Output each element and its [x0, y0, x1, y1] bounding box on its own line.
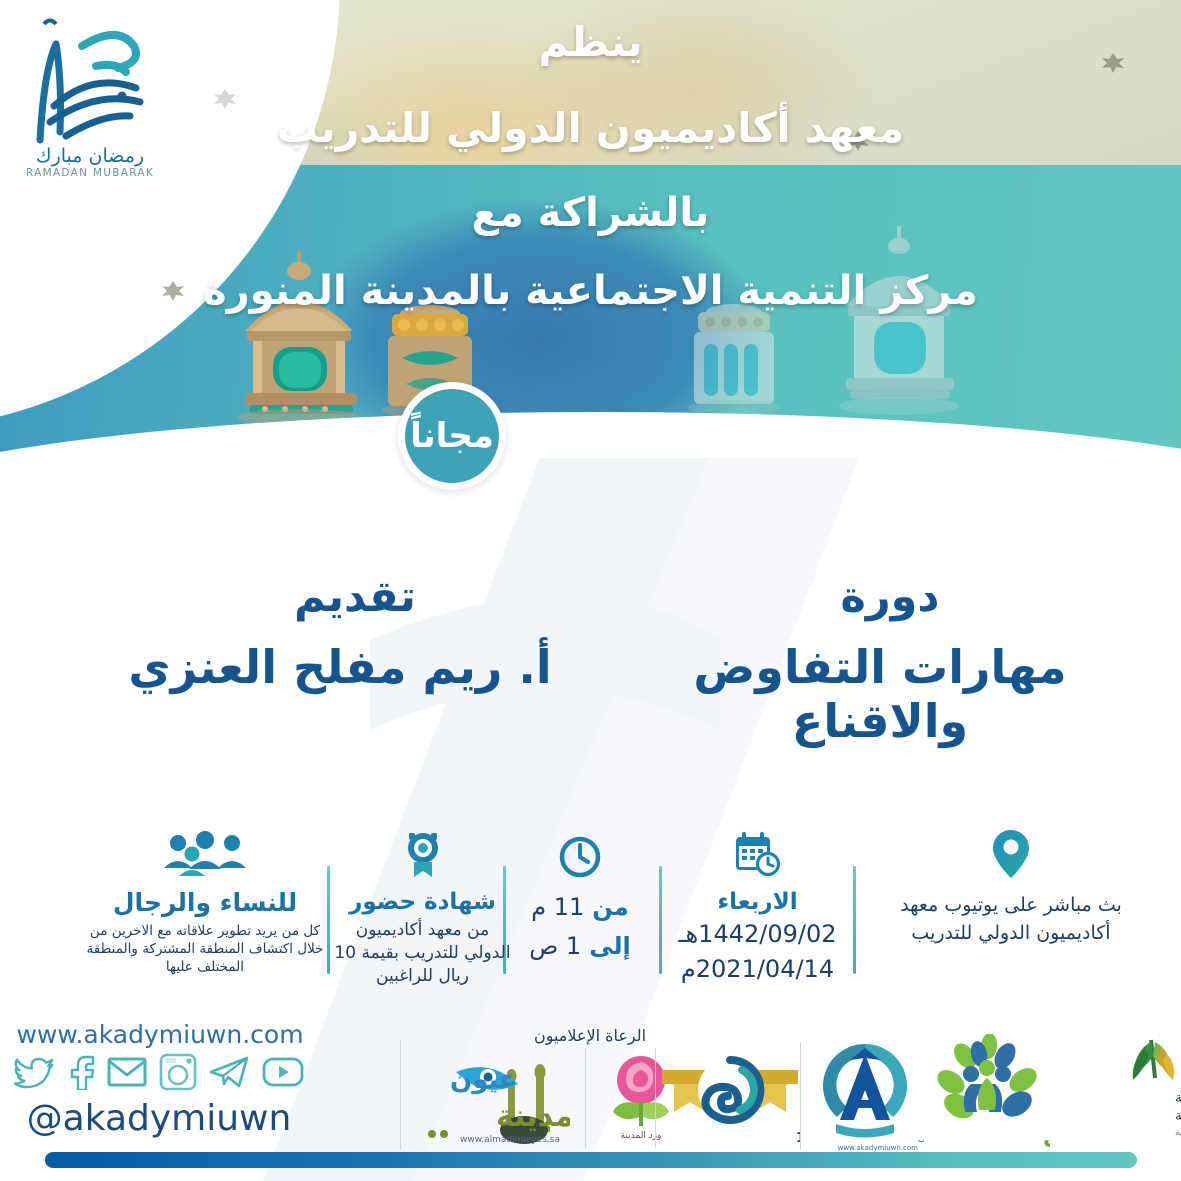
organizer-name: معهد أكاديميون الدولي للتدريب [0, 104, 1181, 152]
almadinaeyes-logo: عيون مدينة www.almadinaeyes.sa [410, 1050, 570, 1150]
social-links [14, 1053, 304, 1091]
info-certificate: شهادة حضور من معهد أكاديميون الدولي للتد… [330, 828, 515, 988]
partnership-label: بالشراكة مع [0, 190, 1181, 236]
divider [327, 866, 330, 974]
info-date-gregorian: 2021/04/14م [655, 952, 860, 987]
logo-arabic-text: رمضان مبارك [36, 145, 144, 167]
divider [400, 1040, 401, 1150]
ramadan-mubarak-logo: رمضان مبارك RAMADAN MUBARAK [10, 10, 170, 180]
instagram-icon[interactable] [159, 1053, 197, 1091]
info-date-day: الاربعاء [655, 889, 860, 915]
logo-caption: معهد أكاديميون الدولي للتدريب [918, 1134, 924, 1144]
course-title: مهارات التفاوض والاقناع [600, 640, 1160, 748]
divider [655, 1048, 656, 1148]
course-label: دورة [620, 572, 1160, 622]
facebook-icon[interactable] [66, 1054, 96, 1090]
logo-caption: www.almadinaeyes.sa [460, 1135, 560, 1145]
clock-icon [558, 834, 602, 880]
logo-text-bottom: مدينة [496, 1099, 570, 1134]
logo-latin-text: RAMADAN MUBARAK [26, 167, 154, 179]
info-date: الاربعاء 1442/09/02هـ 2021/04/14م [655, 828, 860, 987]
akadymiuwn-logo: معهد أكاديميون الدولي للتدريب www.akadym… [806, 1038, 924, 1152]
youtube-icon[interactable] [262, 1056, 304, 1088]
people-group-icon [162, 830, 248, 880]
info-location: بث مباشر على يوتيوب معهد أكاديميون الدول… [866, 828, 1156, 947]
info-audience: للنساء والرجال كل من يريد تطوير علاقاته … [85, 828, 325, 976]
presenter-label: تقديم [140, 572, 570, 622]
info-audience-sub: كل من يريد تطوير علاقاته مع الاخرين من خ… [85, 922, 325, 977]
lantern-teal-large [830, 222, 970, 422]
website-url[interactable]: www.akadymiuwn.com [10, 1020, 310, 1049]
ministry-line1: وزارة الموارد البشرية [1175, 1090, 1181, 1106]
telegram-icon[interactable] [208, 1055, 250, 1089]
info-time-from-label: من [592, 893, 628, 921]
bottom-gradient-bar [45, 1152, 1137, 1168]
partner-name: مركز التنمية الاجتماعية بالمدينة المنورة [0, 268, 1181, 314]
info-row: بث مباشر على يوتيوب معهد أكاديميون الدول… [0, 828, 1181, 1013]
info-audience-title: للنساء والرجال [85, 889, 325, 918]
info-time-from-value: 11 م [531, 890, 584, 925]
logo-caption2: www.akadymiuwn.com [838, 1144, 919, 1152]
divider [585, 1048, 586, 1148]
organizer-verb: ينظم [0, 18, 1181, 66]
award-rosette-icon [401, 830, 445, 880]
email-icon[interactable] [107, 1054, 147, 1090]
ministry-hrsd-logo: وزارة الموارد البشرية والتنمية الاجتماعي… [1035, 1034, 1181, 1152]
info-date-hijri: 1442/09/02هـ [655, 917, 860, 952]
lantern-teal-small [680, 300, 788, 428]
map-pin-icon [991, 828, 1031, 880]
presenter-name: أ. ريم مفلح العنزي [110, 640, 570, 694]
header-banner: ينظم معهد أكاديميون الدولي للتدريب بالشر… [0, 0, 1181, 458]
free-badge-label: مجاناً [410, 416, 494, 456]
maroof-badge-logo: رقم معروف:148889 [660, 1046, 800, 1150]
divider [800, 1042, 801, 1150]
free-badge: مجاناً [398, 382, 506, 490]
sponsors-label: الرعاة الإعلاميون [470, 1026, 710, 1045]
info-time-to-label: إلى [589, 932, 631, 960]
calendar-clock-icon [733, 830, 783, 880]
social-handle[interactable]: @akadymiuwn [4, 1098, 314, 1139]
logo-text-top: عيون [450, 1065, 517, 1095]
info-time-to-value: 1 ص [529, 929, 581, 964]
info-time: من 11 م إلى 1 ص [500, 828, 660, 964]
mojtamai-logo: مجتمعي [925, 1034, 1050, 1152]
twitter-icon[interactable] [14, 1054, 54, 1090]
ministry-line2: والتنمية الاجتماعية [1175, 1108, 1181, 1124]
info-certificate-sub: من معهد أكاديميون الدولي للتدريب بقيمة 1… [330, 919, 515, 988]
info-certificate-title: شهادة حضور [330, 889, 515, 915]
info-location-text: بث مباشر على يوتيوب معهد أكاديميون الدول… [866, 892, 1156, 947]
ministry-line3: المملكة العربية السعودية [1175, 1128, 1181, 1138]
event-poster: ينظم معهد أكاديميون الدولي للتدريب بالشر… [0, 0, 1181, 1181]
